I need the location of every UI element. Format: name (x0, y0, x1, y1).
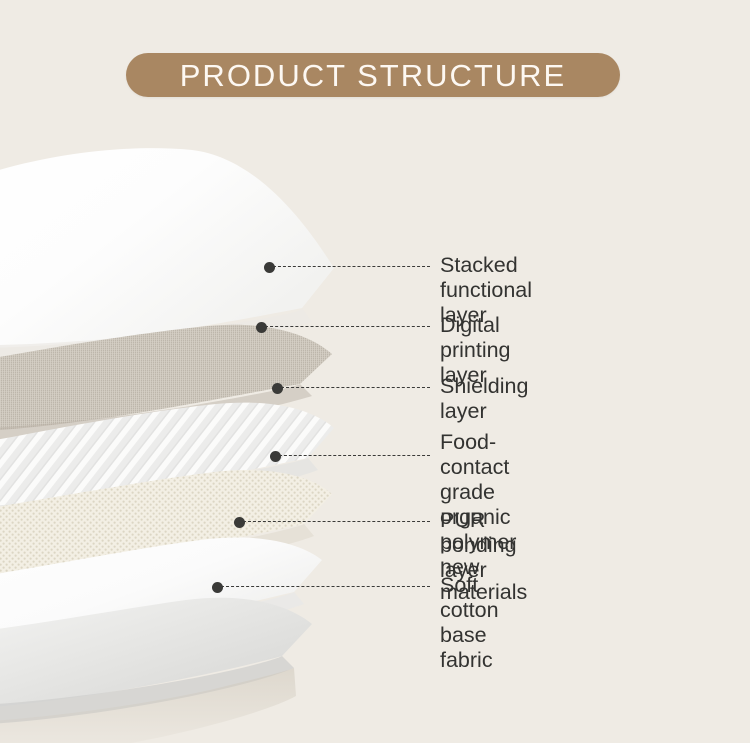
callout-dot-icon (270, 451, 281, 462)
callout-dot-icon (272, 383, 283, 394)
page-title: PRODUCT STRUCTURE (180, 60, 567, 91)
layer-shape-stacked-functional (0, 148, 334, 361)
callout-label: PUR bonding layer (440, 508, 517, 583)
leader-line (221, 586, 430, 587)
title-banner: PRODUCT STRUCTURE (126, 53, 620, 97)
callout-label: Soft cotton base fabric (440, 573, 499, 673)
leader-line (273, 266, 430, 267)
callout-dot-icon (256, 322, 267, 333)
layer-stack-illustration (0, 140, 380, 660)
leader-line (243, 521, 430, 522)
callout-dot-icon (212, 582, 223, 593)
infographic-canvas: PRODUCT STRUCTURE (0, 0, 750, 743)
callout-dot-icon (264, 262, 275, 273)
callout-label: Shielding layer (440, 374, 528, 424)
callout-dot-icon (234, 517, 245, 528)
leader-line (281, 387, 430, 388)
leader-line (265, 326, 430, 327)
leader-line (279, 455, 430, 456)
